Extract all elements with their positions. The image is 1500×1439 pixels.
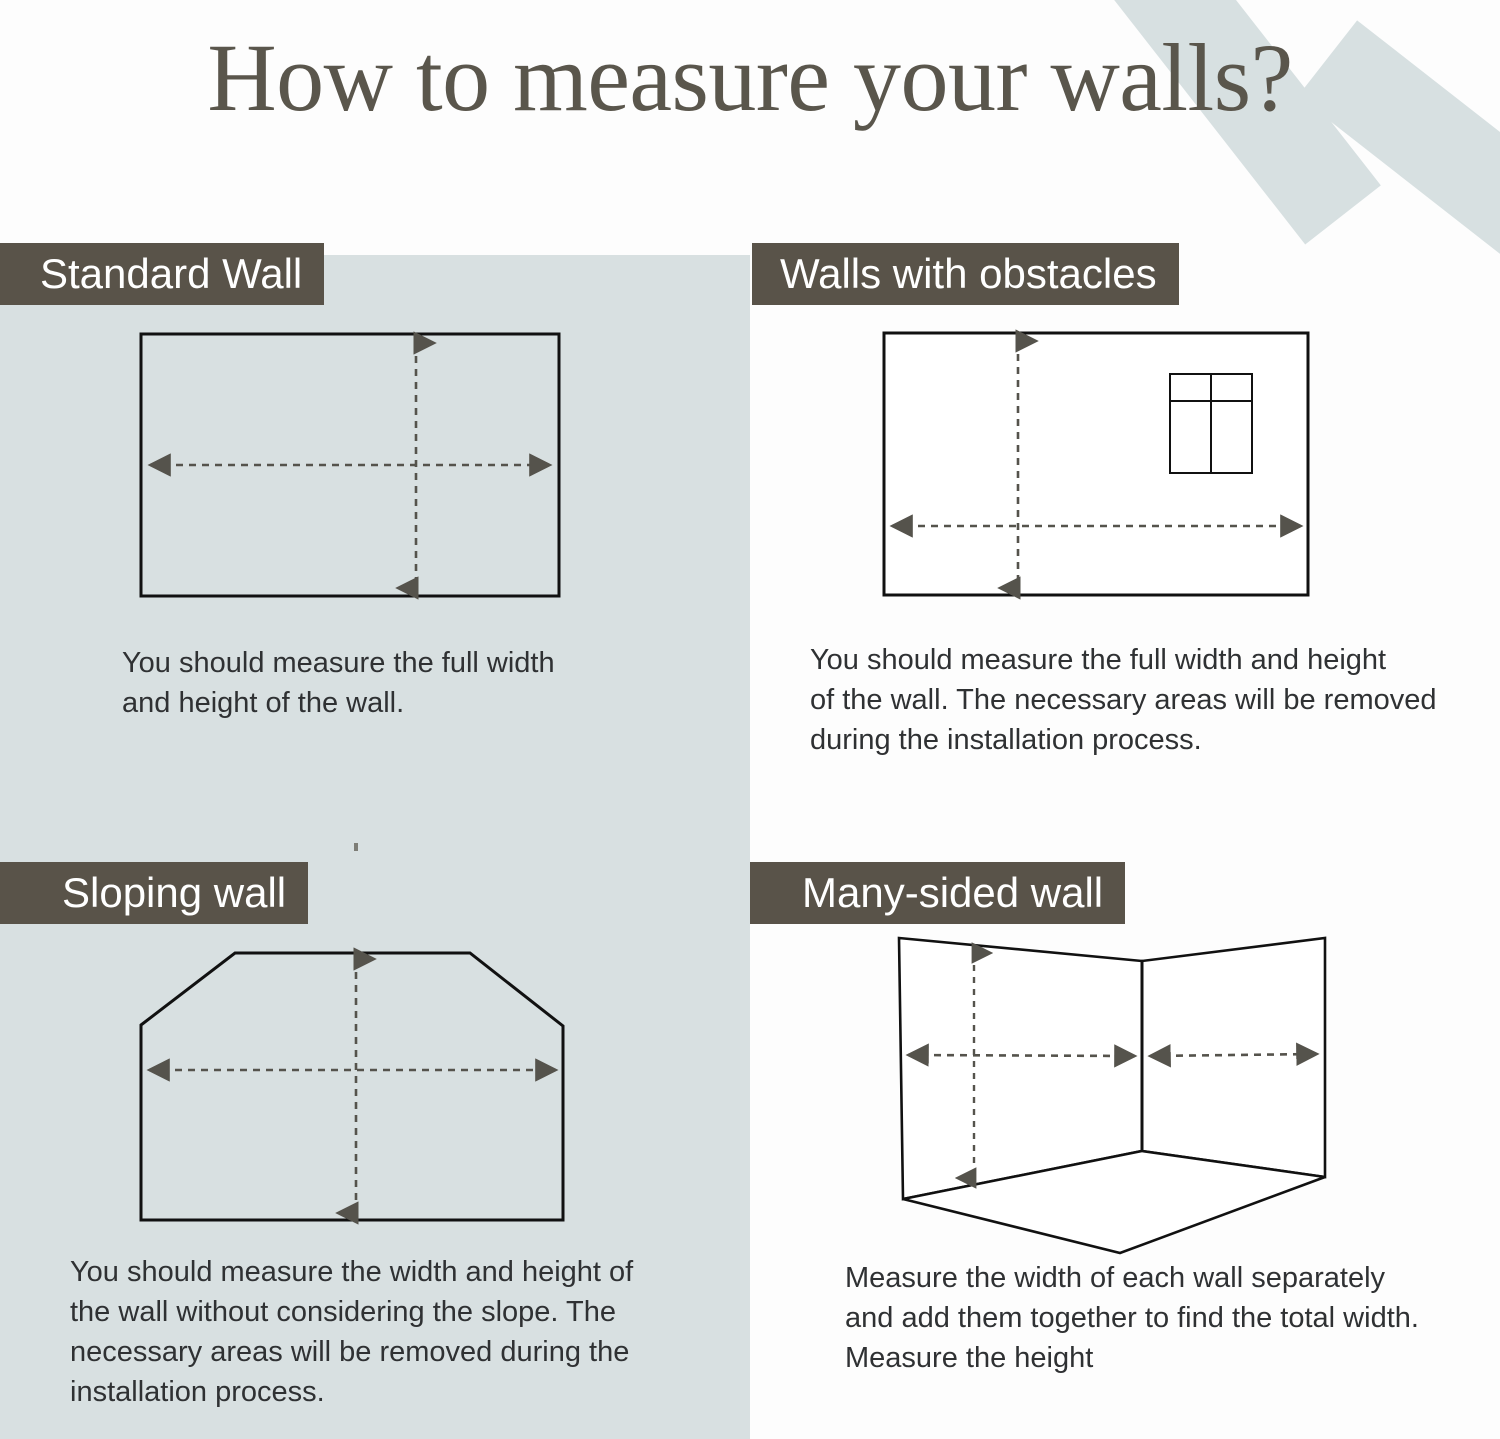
wall-outline	[141, 953, 563, 1220]
wall-outline	[884, 333, 1308, 595]
sloping-wall-diagram	[120, 930, 600, 1255]
section-header-walls-with-obstacles: Walls with obstacles	[752, 243, 1179, 305]
caption-many-sided-wall: Measure the width of each wall separatel…	[845, 1258, 1465, 1378]
infographic-page: How to measure your walls? Standard Wall	[0, 0, 1500, 1439]
section-header-many-sided-wall: Many-sided wall	[750, 862, 1125, 924]
caption-walls-with-obstacles: You should measure the full width and he…	[810, 640, 1470, 760]
caption-standard-wall: You should measure the full width and he…	[122, 643, 642, 723]
right-wall-plane	[1142, 938, 1325, 1177]
section-header-sloping-wall: Sloping wall	[0, 862, 308, 924]
page-title: How to measure your walls?	[0, 30, 1500, 126]
standard-wall-diagram	[120, 320, 590, 625]
many-sided-wall-diagram	[870, 920, 1360, 1270]
stray-mark	[354, 843, 358, 851]
section-header-standard-wall: Standard Wall	[0, 243, 324, 305]
caption-sloping-wall: You should measure the width and height …	[70, 1252, 690, 1412]
walls-with-obstacles-diagram	[860, 320, 1340, 625]
